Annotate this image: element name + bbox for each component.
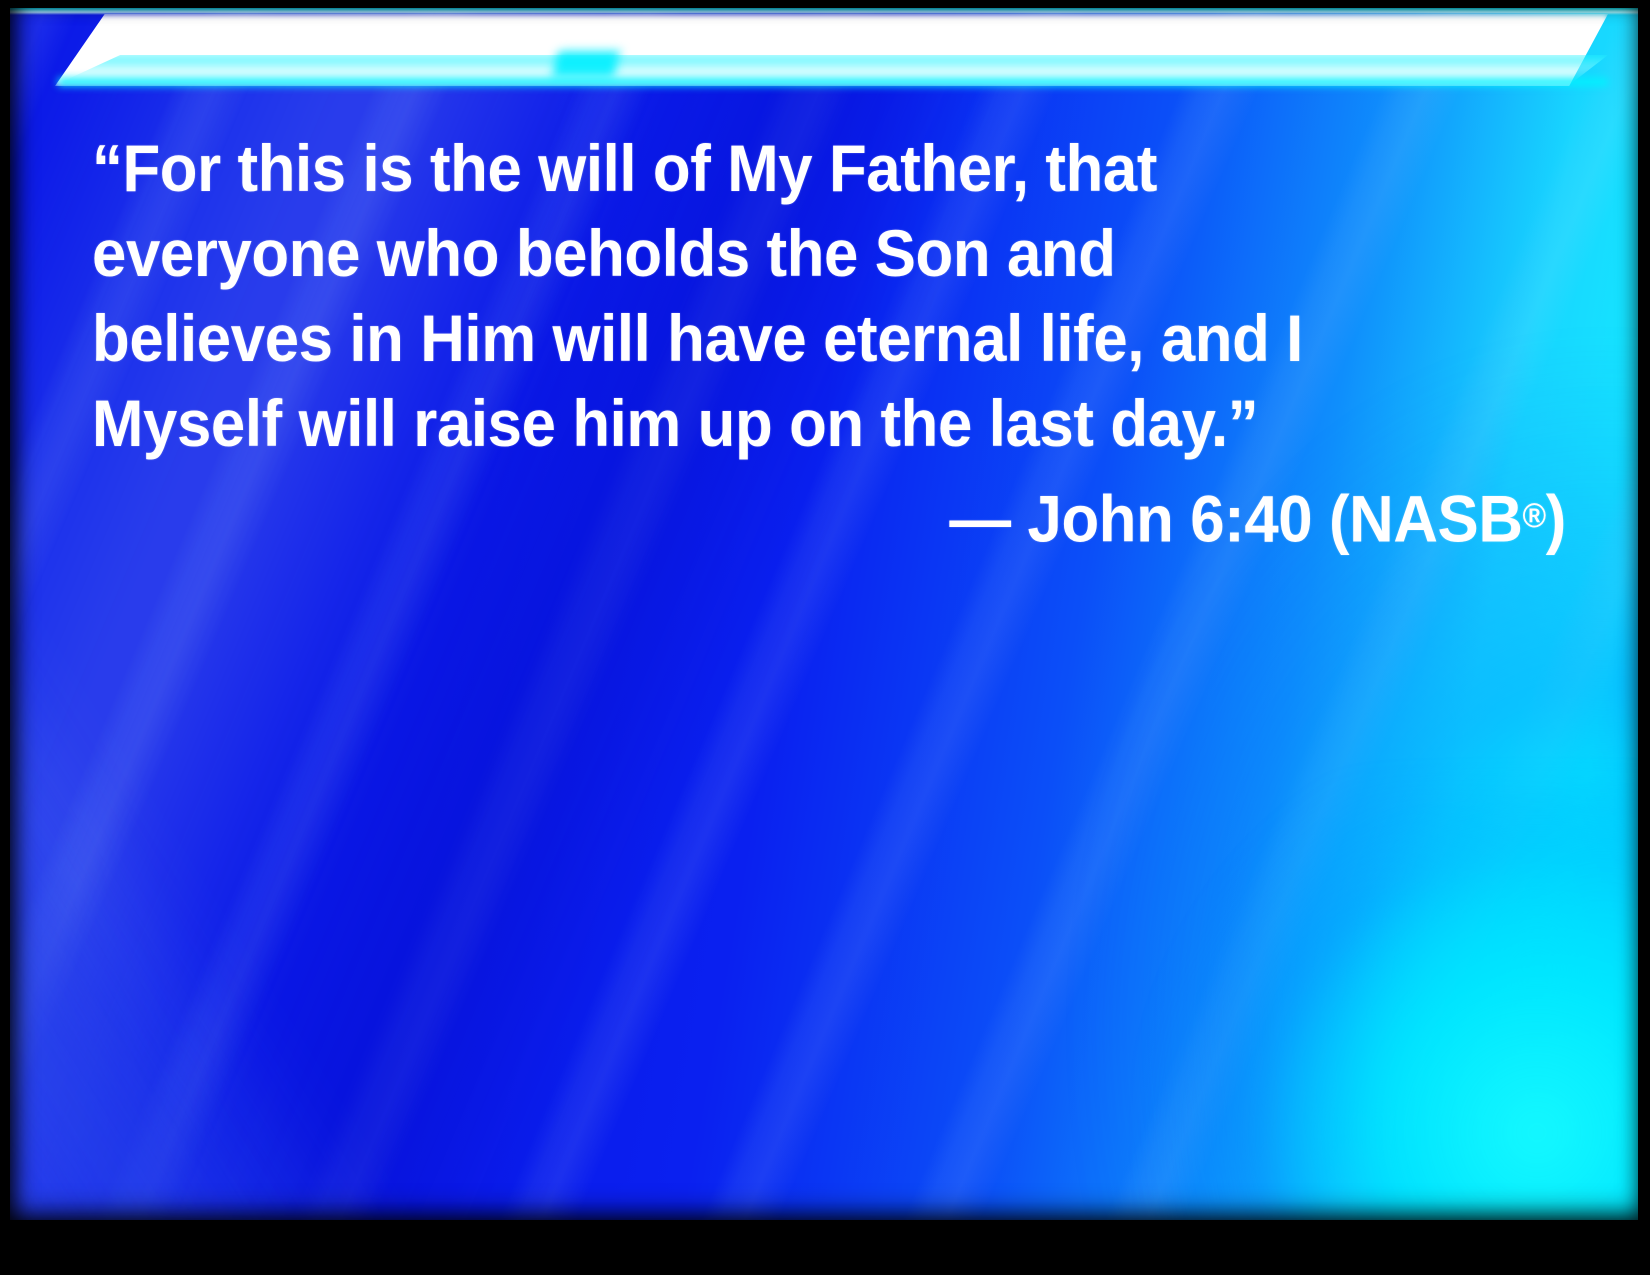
verse-line-2: everyone who beholds the Son and <box>92 211 1470 296</box>
slide-panel: “For this is the will of My Father, that… <box>10 8 1638 1220</box>
attribution-translation-open: (NASB <box>1329 481 1523 555</box>
top-glow-bar <box>10 8 1638 104</box>
attribution-translation-close: ) <box>1546 481 1566 555</box>
verse-line-1: “For this is the will of My Father, that <box>92 126 1470 211</box>
verse-attribution: — John 6:40 (NASB®) <box>188 470 1566 564</box>
attribution-dash: — <box>949 481 1010 555</box>
top-glow-bar-underline <box>58 78 1608 86</box>
top-glow-bar-edge <box>10 8 1638 15</box>
registered-trademark-icon: ® <box>1523 497 1546 535</box>
verse-text-block: “For this is the will of My Father, that… <box>92 126 1566 564</box>
verse-line-3: believes in Him will have eternal life, … <box>92 296 1470 381</box>
verse-slide: “For this is the will of My Father, that… <box>0 0 1650 1275</box>
top-glow-bar-bump <box>552 51 620 77</box>
verse-line-4: Myself will raise him up on the last day… <box>92 381 1470 466</box>
cyan-glow-bottom-right <box>1150 784 1638 1220</box>
attribution-reference: John 6:40 <box>1028 481 1313 555</box>
